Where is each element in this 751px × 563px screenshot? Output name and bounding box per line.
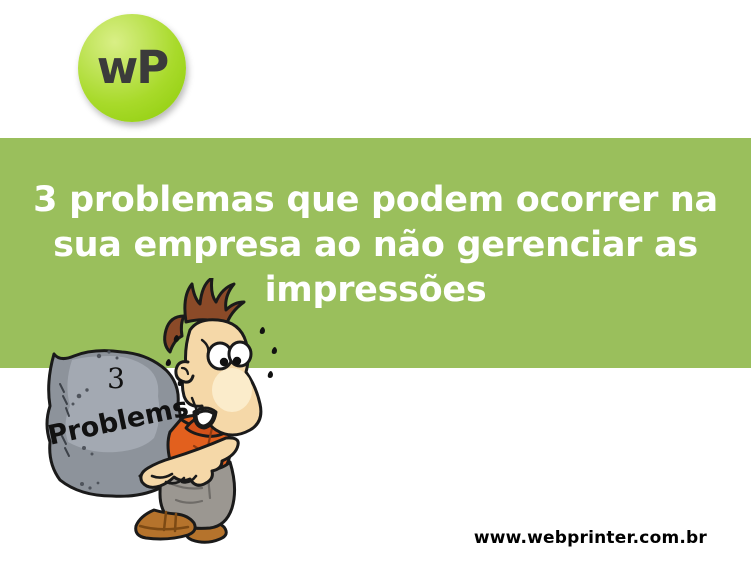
man-carrying-rock-illustration: 3 Problems (36, 278, 286, 550)
logo-letter-p: P (136, 45, 167, 90)
rock-number: 3 (107, 362, 125, 395)
logo-wordmark: wP (78, 14, 186, 122)
slide-canvas: wP 3 problemas que podem ocorrer na sua … (0, 0, 751, 563)
footer-website-url[interactable]: www.webprinter.com.br (0, 528, 751, 548)
title-line-1: 3 problemas que podem ocorrer na (22, 178, 729, 223)
title-line-2: sua empresa ao não gerenciar as (22, 223, 729, 268)
webprinter-logo[interactable]: wP (78, 14, 186, 122)
logo-letter-w: w (97, 45, 137, 90)
